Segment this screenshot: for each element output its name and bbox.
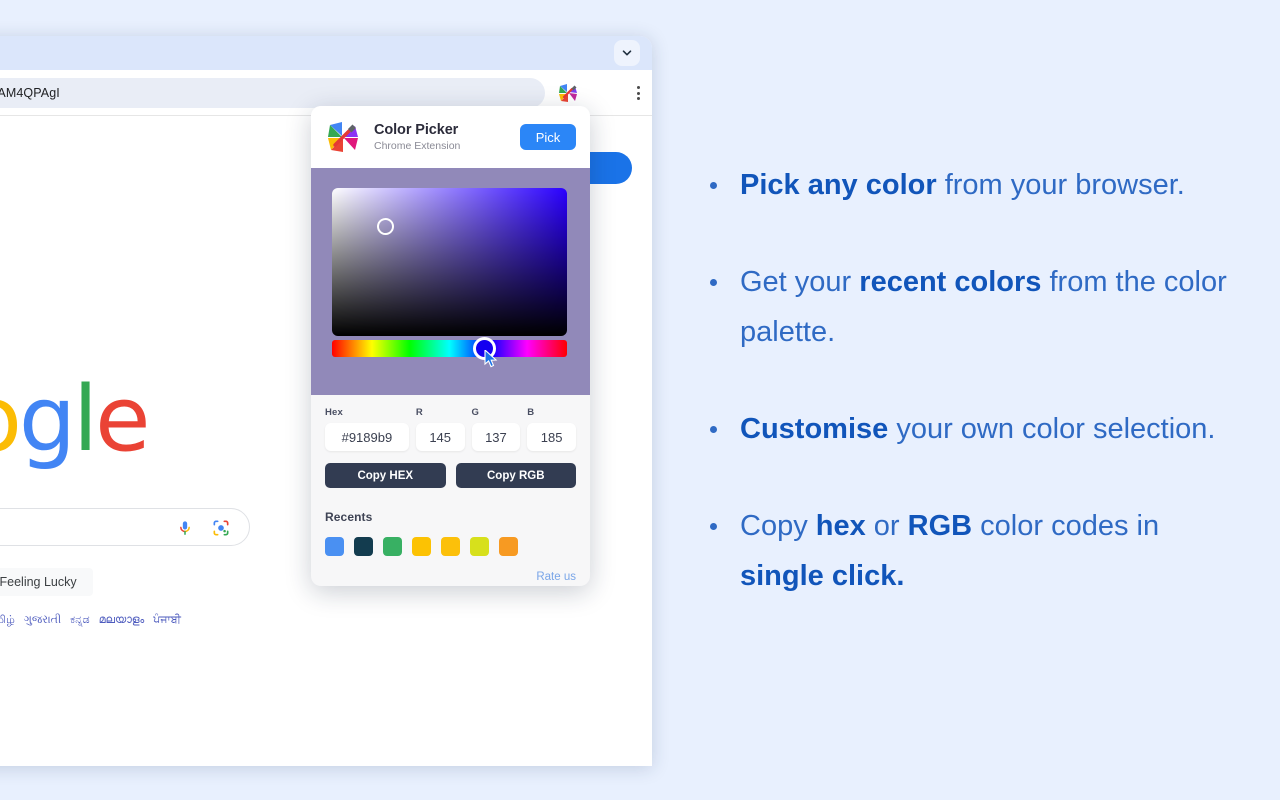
feature-text: color codes in <box>972 510 1159 542</box>
logo-letter-g2: g <box>19 367 73 472</box>
language-link[interactable]: മലയാളം <box>99 614 145 633</box>
color-picker-extension-icon[interactable] <box>556 81 580 105</box>
omnibox-text: WAM4QPAgI <box>0 86 60 100</box>
red-input[interactable]: 145 <box>416 423 465 451</box>
feature-text: from your browser. <box>937 169 1185 201</box>
blue-input[interactable]: 185 <box>527 423 576 451</box>
copy-hex-button[interactable]: Copy HEX <box>325 463 446 488</box>
blue-label: B <box>527 407 576 418</box>
logo-letter-l: l <box>73 367 95 472</box>
recent-swatch[interactable] <box>441 537 460 556</box>
popup-title: Color Picker <box>374 122 520 138</box>
language-link[interactable]: ಕನ್ನಡ <box>70 614 90 633</box>
recent-swatch[interactable] <box>499 537 518 556</box>
hex-field: Hex #9189b9 <box>325 407 409 451</box>
feature-item: Copy hex or RGB color codes in single cl… <box>690 501 1250 601</box>
menu-dot <box>637 97 640 100</box>
recent-swatch[interactable] <box>325 537 344 556</box>
hex-label: Hex <box>325 407 409 418</box>
green-label: G <box>472 407 521 418</box>
color-values-row: Hex #9189b9 R 145 G 137 B 185 <box>311 395 590 451</box>
omnibox[interactable]: WAM4QPAgI <box>0 78 545 108</box>
popup-header: Color Picker Chrome Extension Pick <box>311 106 590 168</box>
three-dot-menu-icon[interactable] <box>628 82 648 104</box>
green-input[interactable]: 137 <box>472 423 521 451</box>
feature-text: your own color selection. <box>888 413 1215 445</box>
feature-bold: single click. <box>740 560 904 592</box>
red-field: R 145 <box>416 407 465 451</box>
copy-buttons-row: Copy HEX Copy RGB <box>311 451 590 488</box>
google-search-input[interactable] <box>0 508 250 546</box>
saturation-handle[interactable] <box>377 218 394 235</box>
feature-item: Customise your own color selection. <box>690 404 1250 454</box>
hex-input[interactable]: #9189b9 <box>325 423 409 451</box>
feature-bold: RGB <box>908 510 972 542</box>
feature-bold: recent colors <box>859 266 1041 298</box>
recent-swatch[interactable] <box>412 537 431 556</box>
language-link[interactable]: ਪੰਜਾਬੀ <box>153 614 181 633</box>
rate-us-link[interactable]: Rate us <box>311 556 590 583</box>
recents-title: Recents <box>325 510 576 524</box>
feature-item: Pick any color from your browser. <box>690 160 1250 210</box>
feature-text: or <box>866 510 908 542</box>
color-picker-area <box>311 168 590 395</box>
tab-search-button[interactable] <box>614 40 640 66</box>
recent-swatch[interactable] <box>470 537 489 556</box>
logo-letter-o2: o <box>0 367 19 472</box>
mouse-cursor-icon <box>484 350 498 368</box>
menu-dot <box>637 86 640 89</box>
recents-swatches <box>325 537 576 556</box>
feature-list: Pick any color from your browser. Get yo… <box>690 160 1250 601</box>
feature-bold: Customise <box>740 413 888 445</box>
popup-subtitle: Chrome Extension <box>374 140 520 152</box>
menu-dot <box>637 92 640 95</box>
popup-title-block: Color Picker Chrome Extension <box>374 122 520 152</box>
recent-swatch[interactable] <box>354 537 373 556</box>
hue-slider[interactable] <box>332 340 567 357</box>
microphone-icon[interactable] <box>175 518 195 538</box>
language-link[interactable]: தமிழ் <box>0 614 15 633</box>
google-lens-icon[interactable] <box>211 518 231 538</box>
marketing-panel: Pick any color from your browser. Get yo… <box>690 160 1250 648</box>
logo-letter-e: e <box>95 367 147 472</box>
feeling-lucky-button[interactable]: I'm Feeling Lucky <box>0 568 93 596</box>
language-link[interactable]: ગુજરાતી <box>24 614 61 633</box>
red-label: R <box>416 407 465 418</box>
tab-strip <box>0 36 652 70</box>
search-buttons: gle Search I'm Feeling Lucky <box>0 568 93 596</box>
feature-text: Copy <box>740 510 816 542</box>
blue-field: B 185 <box>527 407 576 451</box>
feature-bold: Pick any color <box>740 169 937 201</box>
color-picker-popup: Color Picker Chrome Extension Pick Hex #… <box>311 106 590 586</box>
recents-section: Recents <box>311 488 590 556</box>
color-picker-pinwheel-icon <box>323 117 363 157</box>
green-field: G 137 <box>472 407 521 451</box>
chevron-down-icon <box>621 47 633 59</box>
copy-rgb-button[interactable]: Copy RGB <box>456 463 577 488</box>
recent-swatch[interactable] <box>383 537 402 556</box>
language-links: বাংলা తెలుగు मराठी தமிழ் ગુજરાતી ಕನ್ನಡ മ… <box>0 614 181 633</box>
pick-button[interactable]: Pick <box>520 124 576 150</box>
feature-item: Get your recent colors from the color pa… <box>690 257 1250 357</box>
feature-text: Get your <box>740 266 859 298</box>
saturation-value-square[interactable] <box>332 188 567 336</box>
google-logo: Google <box>0 374 120 466</box>
feature-bold: hex <box>816 510 866 542</box>
